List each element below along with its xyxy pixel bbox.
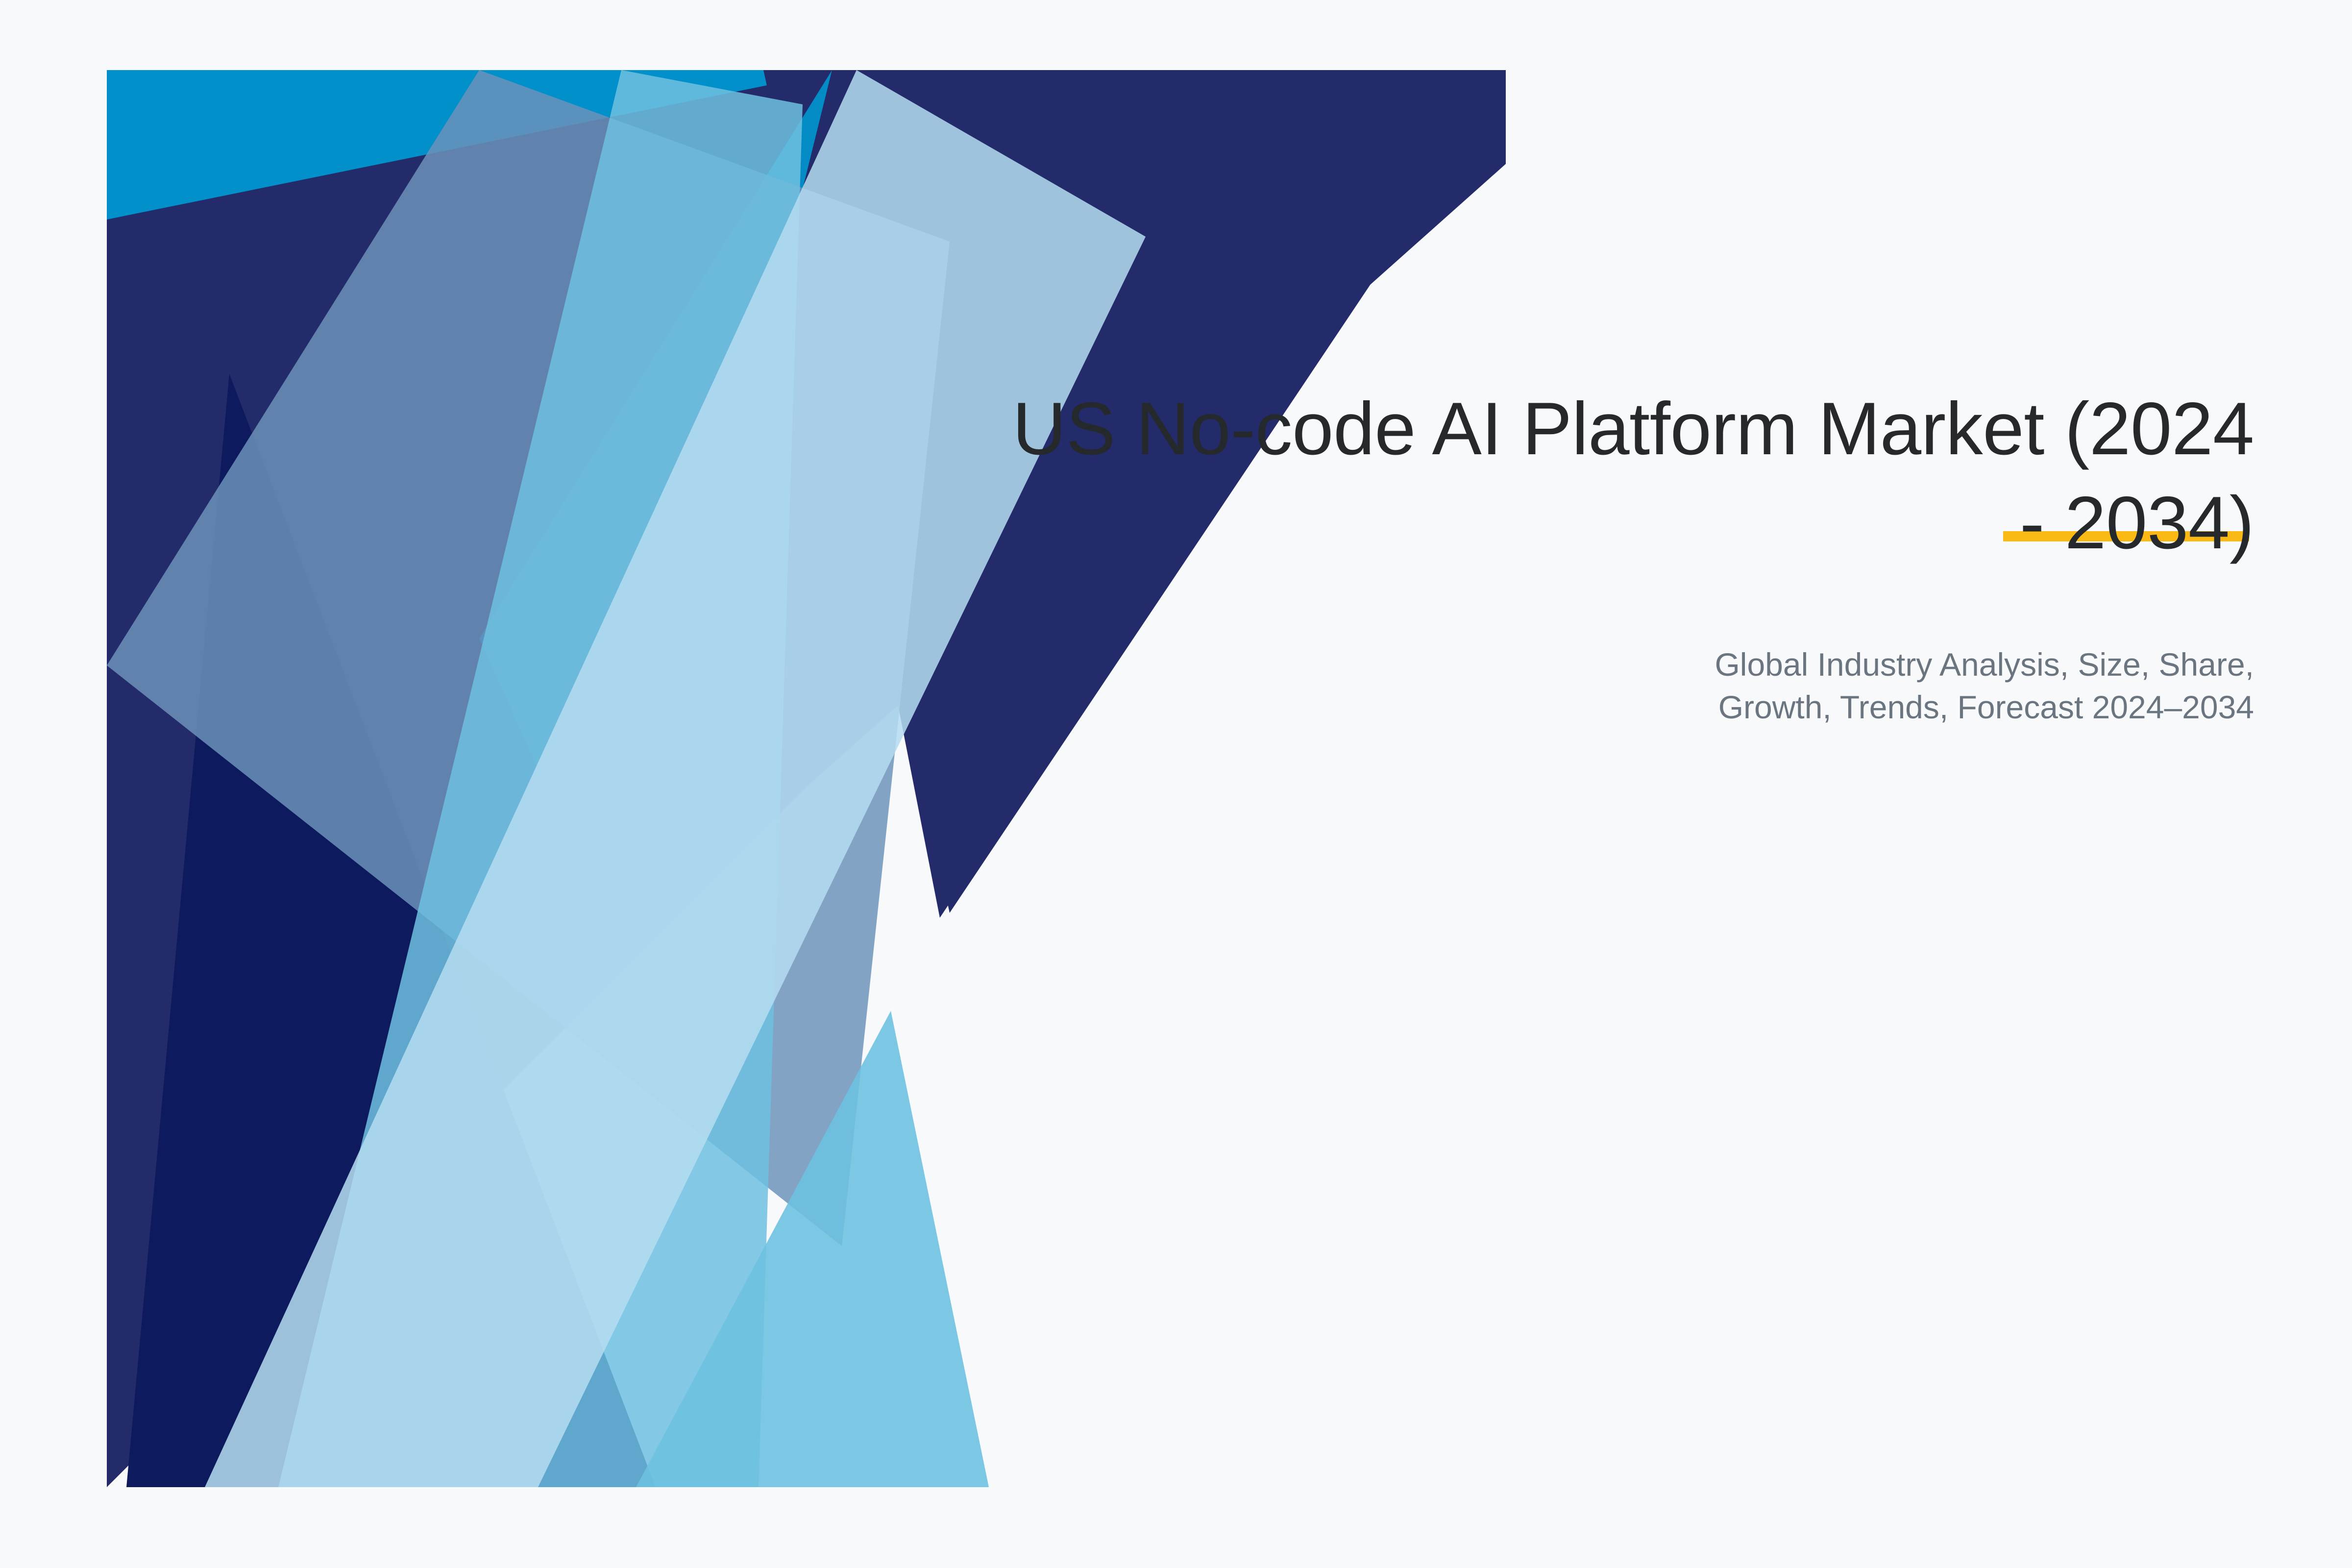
cover-text-block: US No-code AI Platform Market (2024 - 20… [833, 382, 2254, 729]
page-title: US No-code AI Platform Market (2024 - 20… [833, 382, 2254, 570]
page-subtitle: Global Industry Analysis, Size, Share, G… [833, 643, 2254, 729]
abstract-geometric-cover-graphic [107, 70, 1506, 1487]
artwork-canvas [107, 70, 1506, 1487]
title-wrapper: US No-code AI Platform Market (2024 - 20… [833, 382, 2254, 570]
report-cover-page: US No-code AI Platform Market (2024 - 20… [0, 0, 2352, 1568]
